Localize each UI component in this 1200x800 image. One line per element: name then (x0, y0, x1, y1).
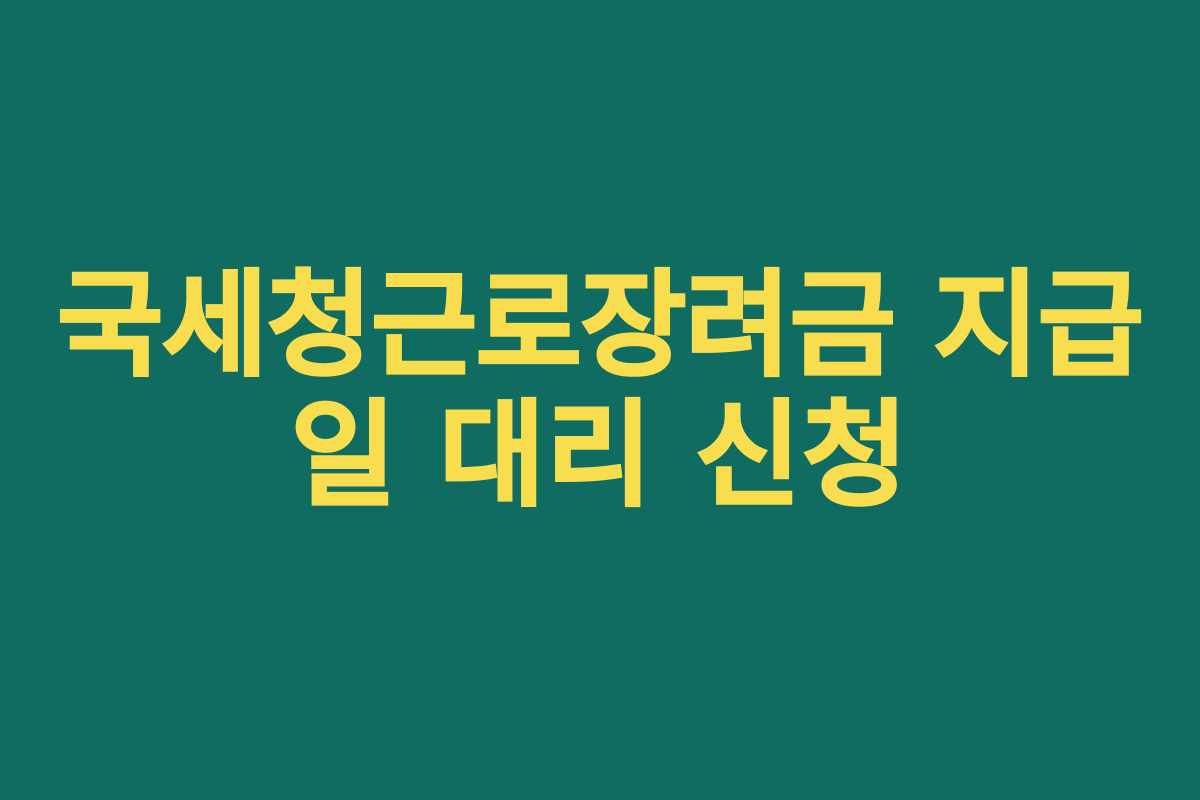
headline: 국세청근로장려금 지급 일 대리 신청 (57, 261, 1142, 521)
poster-canvas: 국세청근로장려금 지급 일 대리 신청 (0, 0, 1200, 800)
headline-line-2: 일 대리 신청 (57, 391, 1142, 521)
headline-line-1: 국세청근로장려금 지급 (57, 261, 1142, 391)
